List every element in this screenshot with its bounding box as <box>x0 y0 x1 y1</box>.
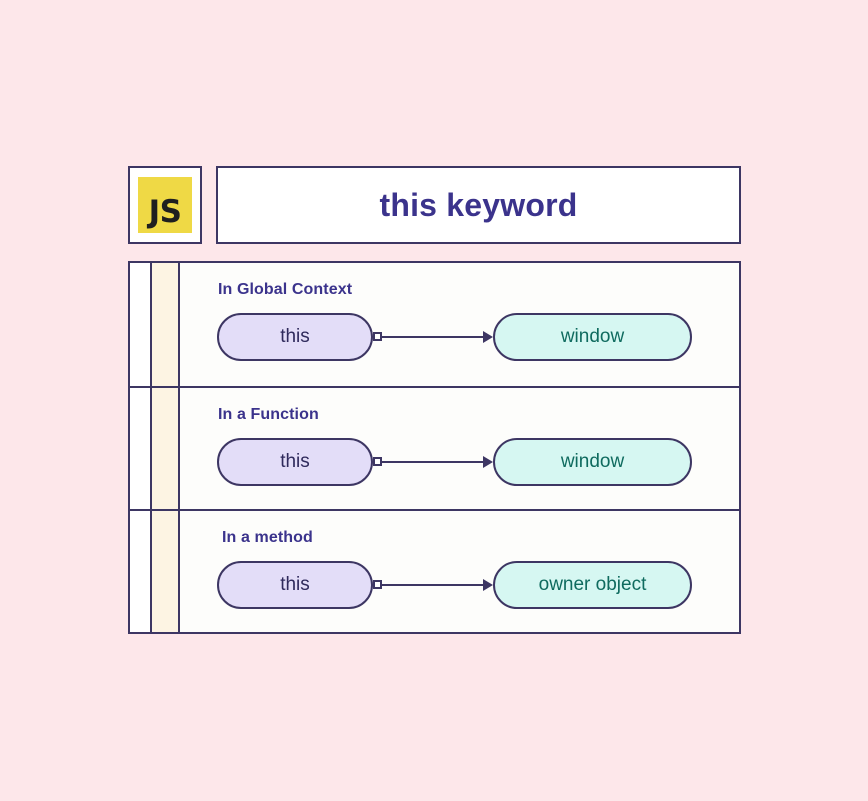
flow-diagram: this window <box>217 438 692 486</box>
arrow-stub <box>373 332 382 341</box>
arrow-line <box>382 461 486 463</box>
arrow-icon <box>373 561 493 609</box>
arrow-stub <box>373 457 382 466</box>
arrow-head <box>483 579 493 591</box>
section-content: In Global Context this window <box>180 263 739 386</box>
flow-diagram: this owner object <box>217 561 692 609</box>
section-content: In a method this owner object <box>180 511 739 632</box>
source-pill: this <box>217 438 373 486</box>
arrow-stub <box>373 580 382 589</box>
section-heading: In Global Context <box>218 281 352 299</box>
target-pill: owner object <box>493 561 692 609</box>
target-pill: window <box>493 313 692 361</box>
rail-cream <box>152 263 180 386</box>
page-title: this keyword <box>379 187 577 224</box>
source-pill: this <box>217 561 373 609</box>
target-pill: window <box>493 438 692 486</box>
section-method: In a method this owner object <box>130 509 739 632</box>
title-box: this keyword <box>216 166 741 244</box>
sections-container: In Global Context this window In a Funct… <box>128 261 741 634</box>
arrow-line <box>382 584 486 586</box>
rail-white <box>130 263 152 386</box>
section-global-context: In Global Context this window <box>130 263 739 386</box>
js-logo-icon: JS <box>138 177 192 233</box>
rail-white <box>130 511 152 632</box>
arrow-head <box>483 456 493 468</box>
rail-cream <box>152 388 180 509</box>
section-content: In a Function this window <box>180 388 739 509</box>
rail-cream <box>152 511 180 632</box>
source-pill: this <box>217 313 373 361</box>
section-heading: In a method <box>222 529 313 547</box>
rail-white <box>130 388 152 509</box>
arrow-head <box>483 331 493 343</box>
section-function: In a Function this window <box>130 386 739 509</box>
this-keyword-infographic: JS this keyword In Global Context this w <box>128 166 741 634</box>
flow-diagram: this window <box>217 313 692 361</box>
js-logo-box: JS <box>128 166 202 244</box>
arrow-line <box>382 336 486 338</box>
js-logo-label: JS <box>149 197 182 233</box>
arrow-icon <box>373 438 493 486</box>
section-heading: In a Function <box>218 406 319 424</box>
arrow-icon <box>373 313 493 361</box>
infographic-header: JS this keyword <box>128 166 741 244</box>
